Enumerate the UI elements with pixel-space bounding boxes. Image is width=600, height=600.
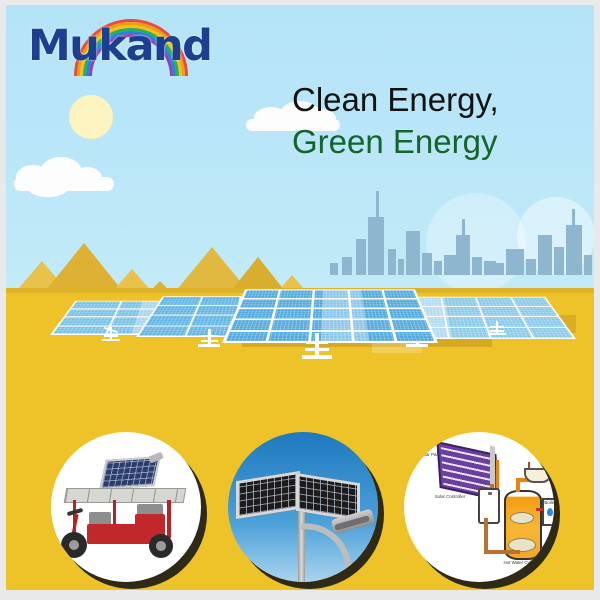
product-circle-solar-rickshaw[interactable] [51,432,201,582]
panel-mount-2 [198,329,220,347]
solar-panel-array [6,201,594,351]
banner-stage: Mukand Clean Energy, Green Energy [6,5,594,590]
diagram-bathtub-icon [524,468,552,483]
cloud-icon-left [10,155,120,193]
headline: Clean Energy, Green Energy [292,79,572,163]
solar-energy-banner: Mukand Clean Energy, Green Energy [0,0,600,600]
sun-icon [69,95,113,139]
rickshaw-wheel-rear [149,534,173,558]
diagram-tub-tap [528,462,530,468]
diagram-controller-dot [488,492,492,495]
diagram-boiler-connector [536,508,543,511]
headline-line-2: Green Energy [292,121,572,163]
diagram-boiler-flame-icon [547,508,553,516]
rickshaw-rear-box [135,514,165,536]
street-light-panel-left [236,471,300,519]
headline-line-1: Clean Energy, [292,79,572,121]
diagram-pipe-return-bottom [484,550,520,554]
panel-mount-5 [488,321,506,335]
product-circle-solar-water-heating[interactable]: Solar Panel Solar Controller Boiler [404,432,554,582]
diagram-cylinder-coil-upper [510,512,534,524]
diagram-pipe-return-riser [484,518,488,552]
product-circle-solar-street-light[interactable] [228,432,378,582]
diagram-label-hot-water-cylinder: Hot Water Cylinder [496,560,548,566]
rickshaw-wheel-front [61,532,87,558]
diagram-label-boiler: Boiler [542,500,554,506]
diagram-label-solar-controller: Solar Controller [434,494,466,500]
panel-mount-1 [102,327,120,341]
brand-name: Mukand [28,21,211,71]
rickshaw-pole-rear [167,500,171,538]
brand-logo[interactable]: Mukand [28,13,208,75]
panel-mount-3 [302,333,332,359]
diagram-pipe-hot-riser [516,478,520,492]
